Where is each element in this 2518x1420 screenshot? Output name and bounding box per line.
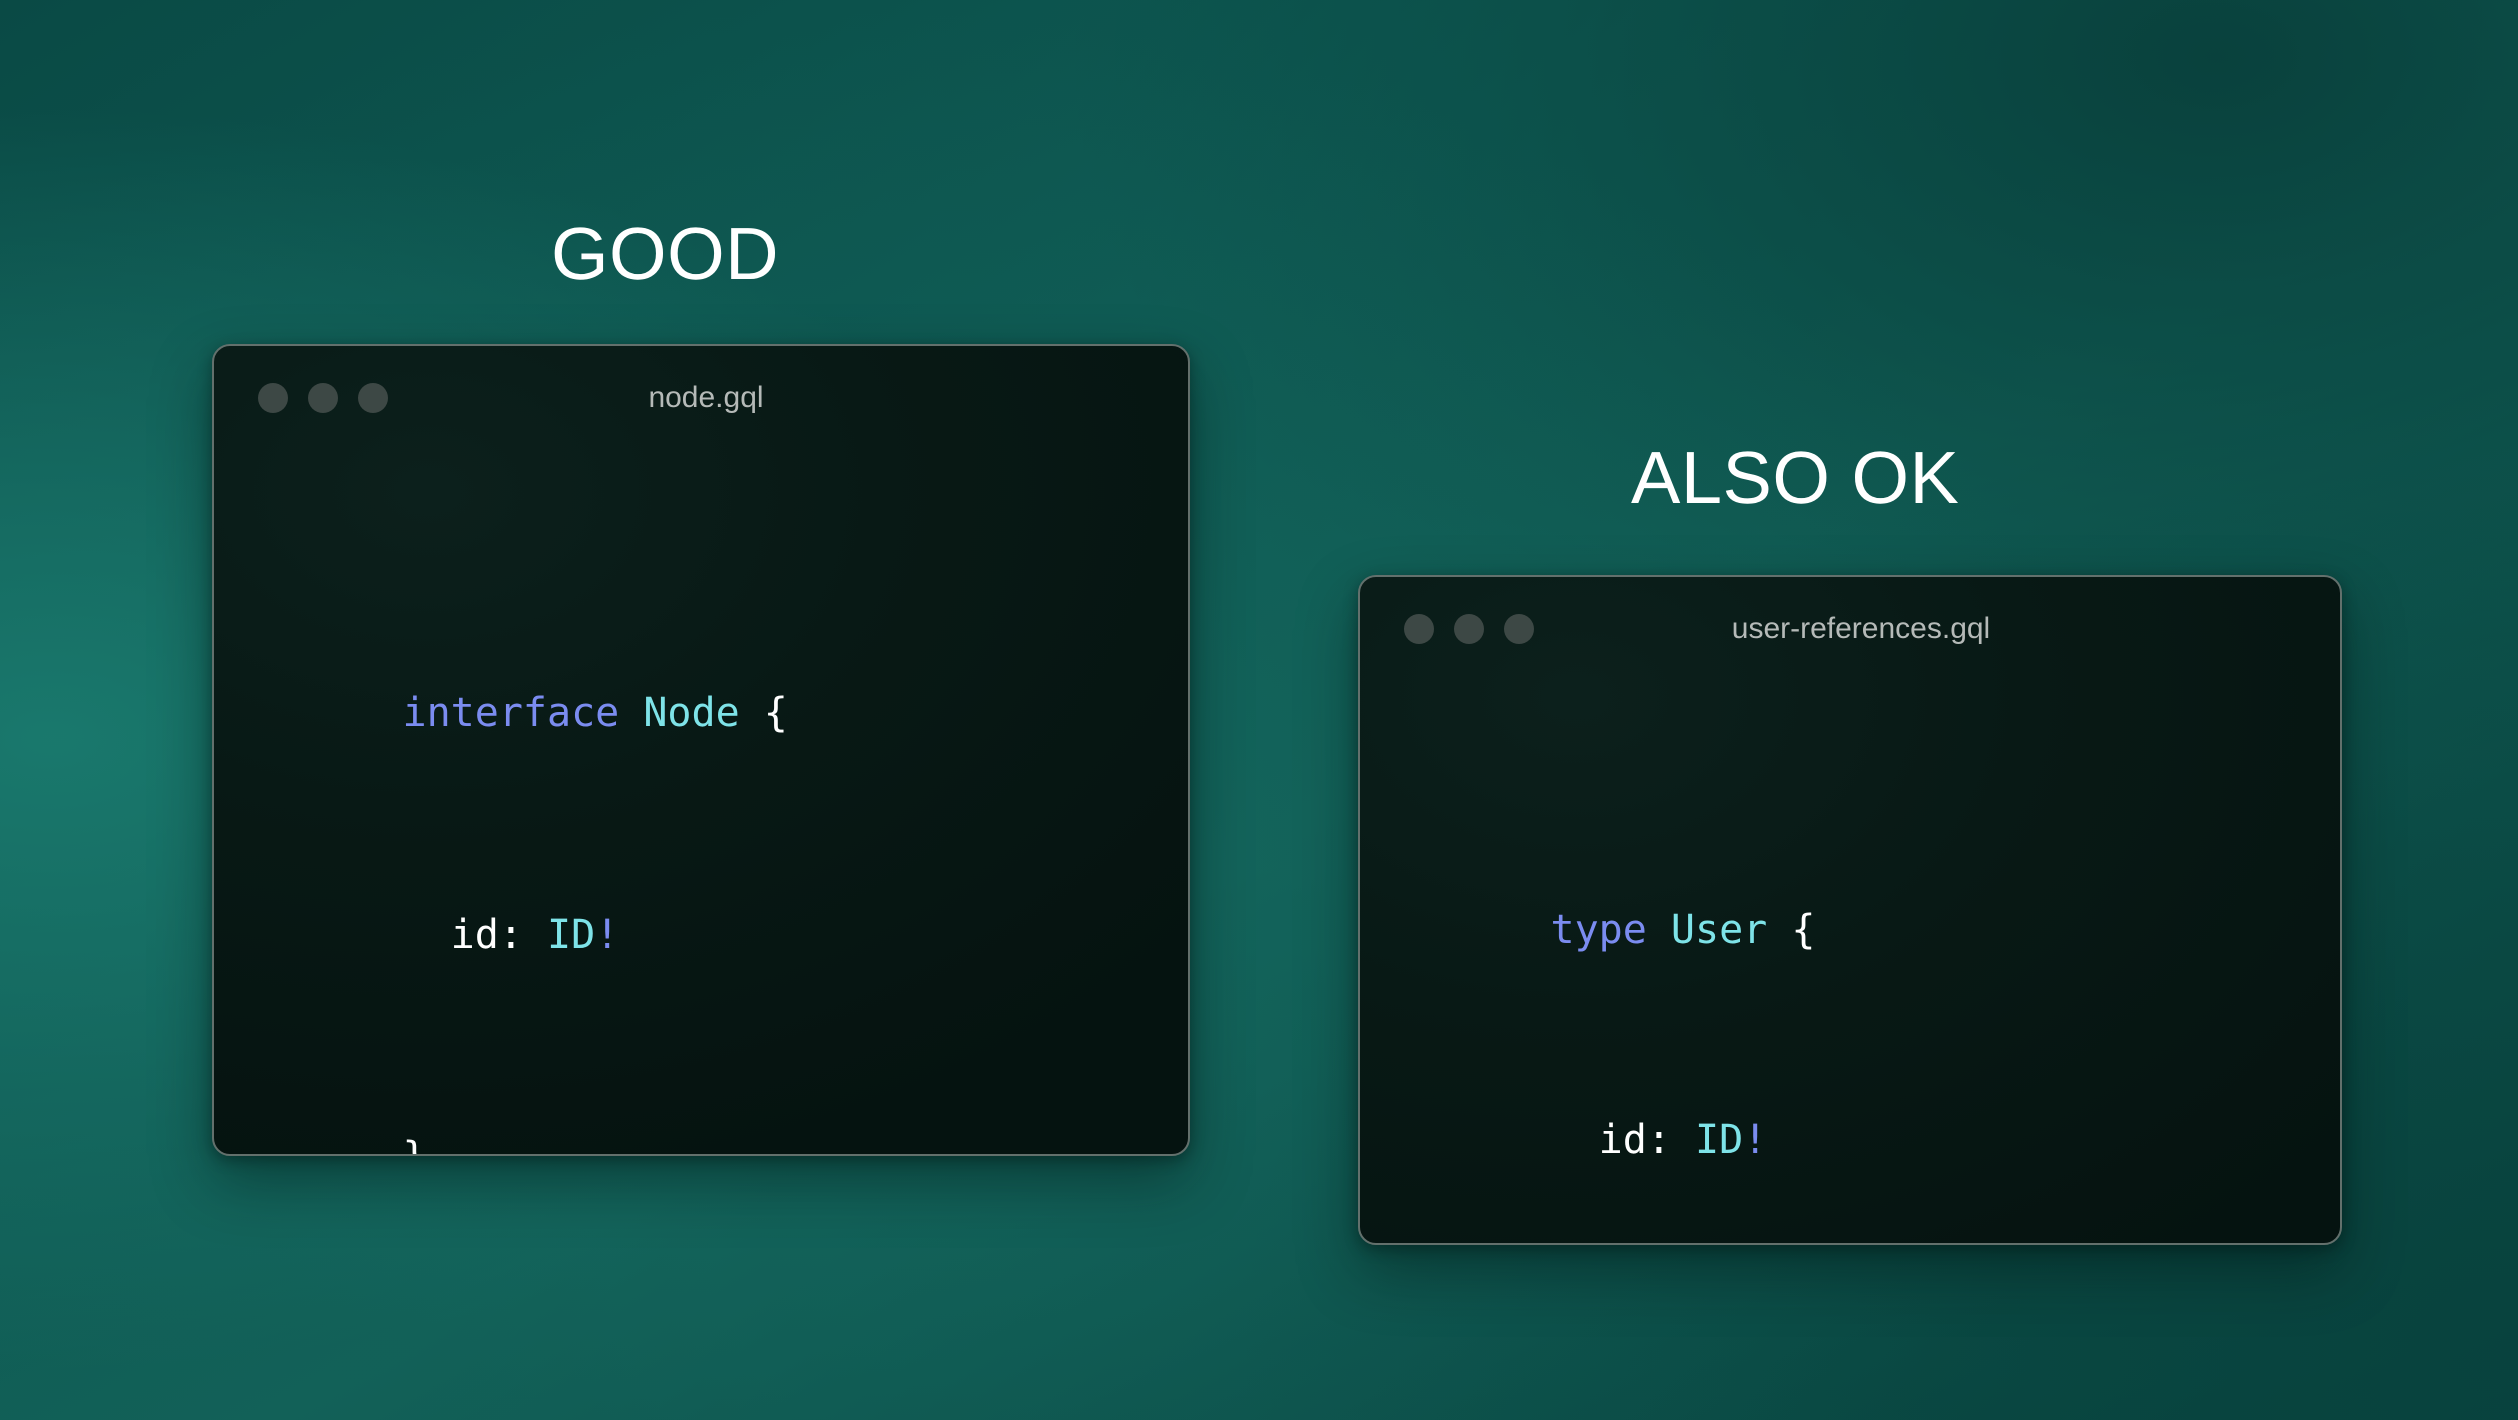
code-token: { [740,690,788,736]
window-titlebar: user-references.gql [1360,577,2340,681]
code-token: interface [403,690,644,736]
maximize-dot-icon[interactable] [358,383,388,413]
window-controls [258,383,388,413]
code-line: } [258,1046,1188,1120]
close-dot-icon[interactable] [1404,614,1434,644]
code-token: ID [547,912,595,958]
window-controls [1404,614,1534,644]
maximize-dot-icon[interactable] [1504,614,1534,644]
code-token: ID [1695,1117,1743,1163]
minimize-dot-icon[interactable] [1454,614,1484,644]
code-line: type User { [1406,825,2340,895]
code-window-user-references: user-references.gql type User { id: ID! … [1358,575,2342,1245]
code-token: ! [1743,1117,1767,1163]
code-line: id: ID! [258,824,1188,898]
panel-heading-good: GOOD [551,217,779,291]
code-window-node: node.gql interface Node { id: ID! } type… [212,344,1190,1156]
minimize-dot-icon[interactable] [308,383,338,413]
code-token: ! [595,912,619,958]
panel-heading-also-ok: ALSO OK [1631,441,1959,515]
code-token: id: [403,912,548,958]
code-token: { [1767,907,1815,953]
window-titlebar: node.gql [214,346,1188,450]
code-token: id: [1551,1117,1696,1163]
code-token: User [1671,907,1767,953]
code-block[interactable]: interface Node { id: ID! } type User imp… [214,450,1188,1156]
code-block[interactable]: type User { id: ID! address(id: ID!): Ad… [1360,681,2340,1245]
code-token: Node [643,690,739,736]
code-token: type [1551,907,1671,953]
code-token: } [403,1134,427,1156]
close-dot-icon[interactable] [258,383,288,413]
code-line: interface Node { [258,602,1188,676]
code-line: id: ID! [1406,1035,2340,1105]
